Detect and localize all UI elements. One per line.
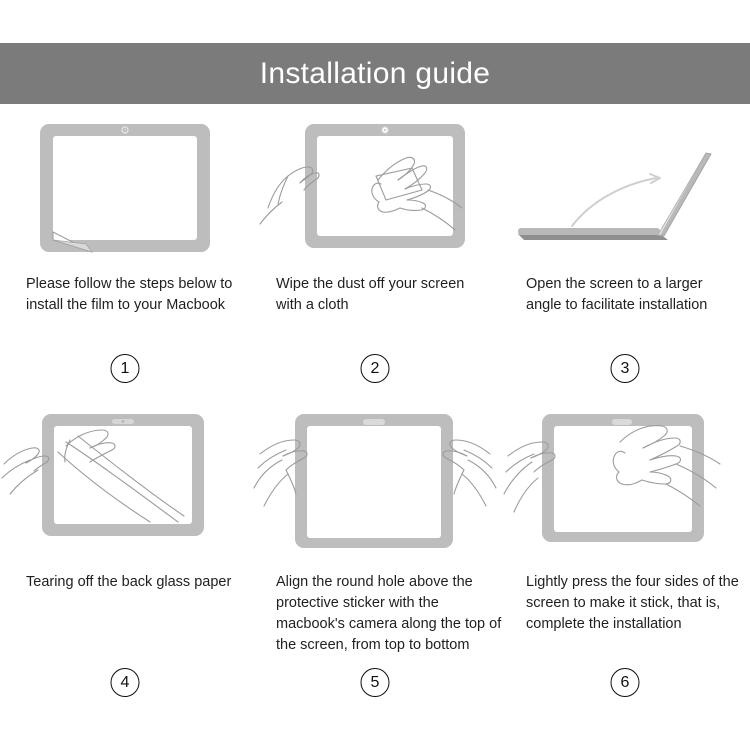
step-5-illustration [250, 402, 500, 560]
step-5-badge: 5 [361, 668, 390, 697]
step-3-illustration [500, 104, 750, 262]
step-1-caption: Please follow the steps below to install… [26, 274, 242, 316]
step-6-illustration [500, 402, 750, 560]
steps-grid: Please follow the steps below to install… [0, 104, 750, 750]
step-2-badge: 2 [361, 354, 390, 383]
step-6: Lightly press the four sides of the scre… [500, 402, 750, 700]
step-3: Open the screen to a larger angle to fac… [500, 104, 750, 402]
step-6-caption: Lightly press the four sides of the scre… [526, 572, 750, 635]
step-3-badge: 3 [611, 354, 640, 383]
step-4: Tearing off the back glass paper 4 [0, 402, 250, 700]
step-4-illustration [0, 402, 250, 560]
step-2-caption: Wipe the dust off your screen with a clo… [276, 274, 492, 316]
step-2: Wipe the dust off your screen with a clo… [250, 104, 500, 402]
step-1-badge: 1 [111, 354, 140, 383]
header-banner: Installation guide [0, 43, 750, 104]
step-5-caption: Align the round hole above the protectiv… [276, 572, 504, 656]
step-4-caption: Tearing off the back glass paper [26, 572, 242, 593]
page-title: Installation guide [260, 59, 491, 89]
step-3-caption: Open the screen to a larger angle to fac… [526, 274, 742, 316]
step-2-illustration [250, 104, 500, 262]
step-5: Align the round hole above the protectiv… [250, 402, 500, 700]
step-4-badge: 4 [111, 668, 140, 697]
step-1: Please follow the steps below to install… [0, 104, 250, 402]
step-6-badge: 6 [611, 668, 640, 697]
step-1-illustration [0, 104, 250, 262]
